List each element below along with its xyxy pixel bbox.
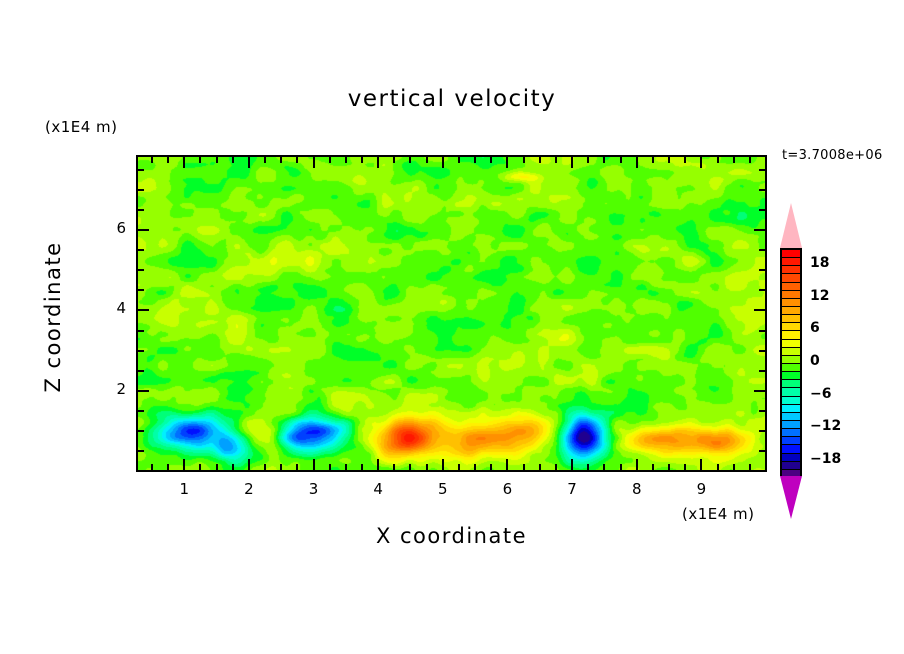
x-minor-tick xyxy=(603,464,605,470)
colorbar-band xyxy=(782,323,800,331)
x-minor-tick-top xyxy=(684,157,686,163)
x-axis-unit-label: (x1E4 m) xyxy=(682,505,755,523)
y-minor-tick xyxy=(138,289,144,291)
x-minor-tick xyxy=(620,464,622,470)
x-major-tick xyxy=(313,459,315,470)
colorbar-tick-label: 0 xyxy=(810,353,820,369)
y-minor-tick-right xyxy=(759,209,765,211)
colorbar-tick-label: 18 xyxy=(810,255,829,271)
x-tick-label: 2 xyxy=(234,480,264,498)
x-major-tick-top xyxy=(183,157,185,168)
x-minor-tick-top xyxy=(280,157,282,163)
x-minor-tick xyxy=(458,464,460,470)
x-minor-tick-top xyxy=(539,157,541,163)
x-tick-label: 1 xyxy=(169,480,199,498)
x-minor-tick-top xyxy=(264,157,266,163)
y-minor-tick xyxy=(138,430,144,432)
x-minor-tick xyxy=(280,464,282,470)
x-minor-tick-top xyxy=(393,157,395,163)
x-minor-tick-top xyxy=(216,157,218,163)
x-minor-tick-top xyxy=(329,157,331,163)
colorbar-band xyxy=(782,315,800,323)
x-minor-tick-top xyxy=(620,157,622,163)
x-minor-tick-top xyxy=(652,157,654,163)
colorbar-band xyxy=(782,413,800,421)
x-minor-tick xyxy=(684,464,686,470)
y-minor-tick xyxy=(138,169,144,171)
x-major-tick-top xyxy=(442,157,444,168)
x-tick-label: 7 xyxy=(557,480,587,498)
x-minor-tick xyxy=(264,464,266,470)
y-minor-tick-right xyxy=(759,470,765,472)
x-minor-tick xyxy=(749,464,751,470)
y-minor-tick-right xyxy=(759,330,765,332)
x-major-tick-top xyxy=(700,157,702,168)
x-major-tick xyxy=(571,459,573,470)
y-minor-tick xyxy=(138,249,144,251)
x-minor-tick xyxy=(474,464,476,470)
x-major-tick-top xyxy=(506,157,508,168)
colorbar-band xyxy=(782,437,800,445)
y-axis-unit-label: (x1E4 m) xyxy=(45,118,118,136)
x-minor-tick xyxy=(555,464,557,470)
colorbar-band xyxy=(782,291,800,299)
x-minor-tick xyxy=(393,464,395,470)
x-minor-tick xyxy=(345,464,347,470)
y-minor-tick xyxy=(138,450,144,452)
colorbar-over-arrow-icon xyxy=(780,203,802,248)
colorbar-band xyxy=(782,283,800,291)
x-minor-tick-top xyxy=(555,157,557,163)
x-major-tick xyxy=(506,459,508,470)
colorbar-band xyxy=(782,421,800,429)
y-minor-tick-right xyxy=(759,169,765,171)
x-minor-tick xyxy=(199,464,201,470)
x-minor-tick-top xyxy=(361,157,363,163)
x-minor-tick xyxy=(409,464,411,470)
x-minor-tick xyxy=(733,464,735,470)
x-major-tick-top xyxy=(313,157,315,168)
y-tick-label: 4 xyxy=(96,299,126,317)
y-minor-tick-right xyxy=(759,450,765,452)
y-minor-tick xyxy=(138,269,144,271)
y-minor-tick-right xyxy=(759,370,765,372)
y-minor-tick-right xyxy=(759,249,765,251)
x-tick-label: 3 xyxy=(299,480,329,498)
timestamp-label: t=3.7008e+06 xyxy=(782,148,883,163)
x-minor-tick xyxy=(539,464,541,470)
y-minor-tick xyxy=(138,189,144,191)
colorbar-band xyxy=(782,348,800,356)
y-major-tick-right xyxy=(754,229,765,231)
colorbar-band xyxy=(782,372,800,380)
colorbar-band xyxy=(782,250,800,258)
y-minor-tick-right xyxy=(759,289,765,291)
x-minor-tick-top xyxy=(296,157,298,163)
x-major-tick-top xyxy=(571,157,573,168)
y-minor-tick xyxy=(138,209,144,211)
y-axis-title: Z coordinate xyxy=(41,202,65,432)
colorbar-tick-label: 12 xyxy=(810,288,829,304)
x-major-tick-top xyxy=(765,157,767,168)
colorbar-band xyxy=(782,388,800,396)
x-tick-label: 5 xyxy=(428,480,458,498)
colorbar-tick-label: −12 xyxy=(810,418,841,434)
x-major-tick-top xyxy=(636,157,638,168)
y-major-tick xyxy=(138,309,149,311)
y-minor-tick xyxy=(138,330,144,332)
colorbar-band xyxy=(782,340,800,348)
y-minor-tick xyxy=(138,350,144,352)
x-major-tick xyxy=(248,459,250,470)
colorbar-band xyxy=(782,462,800,470)
y-minor-tick-right xyxy=(759,350,765,352)
x-minor-tick-top xyxy=(733,157,735,163)
contour-plot-area[interactable] xyxy=(136,155,767,472)
colorbar-tick-label: 6 xyxy=(810,320,820,336)
x-minor-tick xyxy=(232,464,234,470)
x-minor-tick-top xyxy=(199,157,201,163)
y-minor-tick-right xyxy=(759,430,765,432)
colorbar-band xyxy=(782,405,800,413)
x-minor-tick xyxy=(216,464,218,470)
x-minor-tick-top xyxy=(490,157,492,163)
y-minor-tick-right xyxy=(759,410,765,412)
colorbar-under-arrow-icon xyxy=(780,476,802,519)
x-minor-tick-top xyxy=(345,157,347,163)
x-minor-tick-top xyxy=(523,157,525,163)
x-major-tick-top xyxy=(377,157,379,168)
y-major-tick xyxy=(138,229,149,231)
x-minor-tick xyxy=(587,464,589,470)
y-minor-tick-right xyxy=(759,189,765,191)
y-major-tick-right xyxy=(754,390,765,392)
y-major-tick xyxy=(138,390,149,392)
y-minor-tick xyxy=(138,470,144,472)
x-minor-tick-top xyxy=(458,157,460,163)
x-minor-tick-top xyxy=(587,157,589,163)
colorbar-band xyxy=(782,445,800,453)
x-minor-tick-top xyxy=(426,157,428,163)
x-minor-tick xyxy=(668,464,670,470)
x-minor-tick-top xyxy=(409,157,411,163)
x-minor-tick xyxy=(490,464,492,470)
x-minor-tick xyxy=(329,464,331,470)
colorbar-band xyxy=(782,397,800,405)
x-minor-tick xyxy=(296,464,298,470)
colorbar-band xyxy=(782,299,800,307)
x-minor-tick-top xyxy=(151,157,153,163)
colorbar-tick-label: −6 xyxy=(810,386,831,402)
x-tick-label: 6 xyxy=(492,480,522,498)
contour-field xyxy=(138,157,765,470)
colorbar-band xyxy=(782,454,800,462)
x-tick-label: 8 xyxy=(622,480,652,498)
x-axis-title: X coordinate xyxy=(136,524,767,548)
y-major-tick-right xyxy=(754,309,765,311)
x-tick-label: 4 xyxy=(363,480,393,498)
x-minor-tick-top xyxy=(603,157,605,163)
x-minor-tick xyxy=(361,464,363,470)
x-minor-tick-top xyxy=(474,157,476,163)
x-minor-tick xyxy=(717,464,719,470)
x-minor-tick xyxy=(426,464,428,470)
y-minor-tick-right xyxy=(759,269,765,271)
colorbar-band xyxy=(782,258,800,266)
colorbar[interactable] xyxy=(776,203,806,519)
colorbar-band xyxy=(782,380,800,388)
colorbar-band xyxy=(782,364,800,372)
x-minor-tick-top xyxy=(167,157,169,163)
colorbar-bands xyxy=(780,248,802,476)
colorbar-band xyxy=(782,429,800,437)
x-minor-tick xyxy=(523,464,525,470)
colorbar-band xyxy=(782,266,800,274)
y-tick-label: 2 xyxy=(96,380,126,398)
x-minor-tick-top xyxy=(668,157,670,163)
x-major-tick xyxy=(377,459,379,470)
colorbar-tick-label: −18 xyxy=(810,451,841,467)
x-tick-label: 9 xyxy=(686,480,716,498)
y-tick-label: 6 xyxy=(96,219,126,237)
colorbar-band xyxy=(782,274,800,282)
y-minor-tick xyxy=(138,410,144,412)
colorbar-band xyxy=(782,356,800,364)
x-major-tick xyxy=(765,459,767,470)
x-minor-tick xyxy=(167,464,169,470)
x-major-tick-top xyxy=(248,157,250,168)
x-minor-tick xyxy=(652,464,654,470)
x-major-tick xyxy=(700,459,702,470)
colorbar-band xyxy=(782,331,800,339)
page-title: vertical velocity xyxy=(0,86,904,112)
x-minor-tick-top xyxy=(232,157,234,163)
x-minor-tick-top xyxy=(749,157,751,163)
x-minor-tick-top xyxy=(717,157,719,163)
y-minor-tick xyxy=(138,370,144,372)
colorbar-band xyxy=(782,307,800,315)
x-major-tick xyxy=(183,459,185,470)
x-major-tick xyxy=(636,459,638,470)
x-major-tick xyxy=(442,459,444,470)
x-minor-tick xyxy=(151,464,153,470)
